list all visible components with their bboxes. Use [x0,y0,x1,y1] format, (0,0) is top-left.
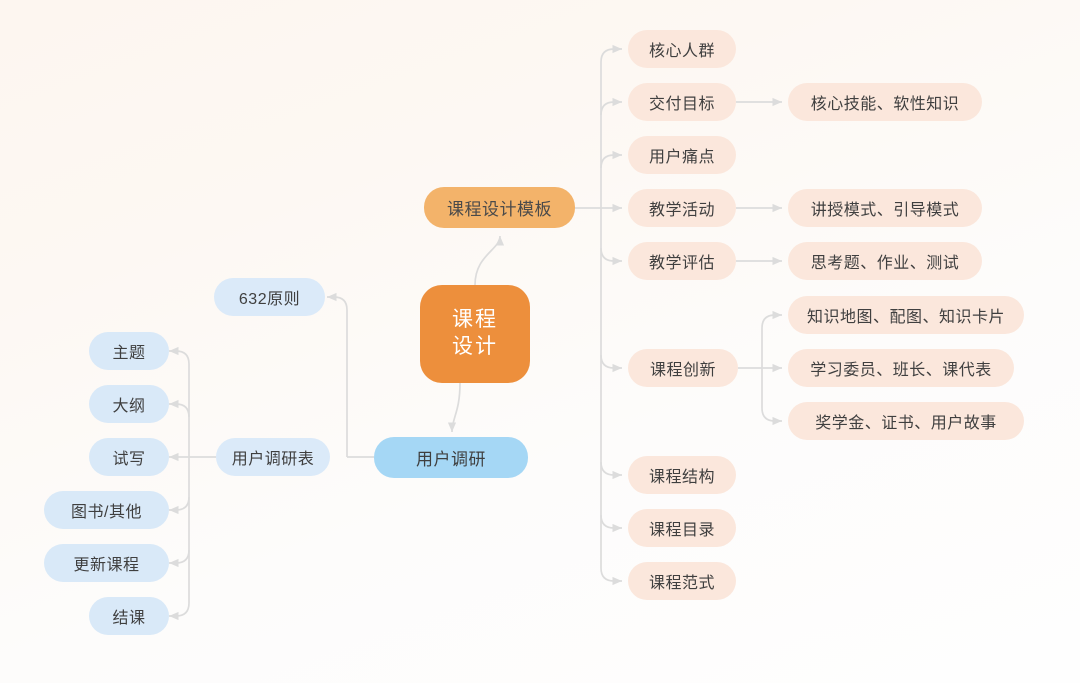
node-core-audience[interactable]: 核心人群 [628,30,736,68]
node-teaching-assessment[interactable]: 教学评估 [628,242,736,280]
node-label: 课程结构 [649,463,715,487]
node-outline[interactable]: 大纲 [89,385,169,423]
node-label: 用户调研 [416,445,486,470]
node-label: 课程目录 [649,516,715,540]
node-course-innovation-detail-1[interactable]: 知识地图、配图、知识卡片 [788,296,1024,334]
node-update-course[interactable]: 更新课程 [44,544,169,582]
node-label: 核心人群 [649,37,715,61]
node-label: 课程设计模板 [447,195,552,220]
node-label: 课程创新 [650,356,716,380]
node-research-form[interactable]: 用户调研表 [216,438,330,476]
node-label: 交付目标 [649,90,715,114]
node-books-others[interactable]: 图书/其他 [44,491,169,529]
node-course-innovation[interactable]: 课程创新 [628,349,738,387]
node-teaching-assessment-detail[interactable]: 思考题、作业、测试 [788,242,982,280]
node-course-innovation-detail-3[interactable]: 奖学金、证书、用户故事 [788,402,1024,440]
node-label: 用户痛点 [649,143,715,167]
node-label: 主题 [112,339,145,363]
root-label-line1: 课程 [452,307,498,334]
root-node-course-design[interactable]: 课程 设计 [420,285,530,383]
node-delivery-goal-detail[interactable]: 核心技能、软性知识 [788,83,982,121]
node-teaching-activity-detail[interactable]: 讲授模式、引导模式 [788,189,982,227]
root-label-line2: 设计 [452,334,498,361]
node-user-painpoint[interactable]: 用户痛点 [628,136,736,174]
node-label: 课程范式 [649,569,715,593]
mindmap-canvas: 课程 设计 课程设计模板 核心人群 交付目标 核心技能、软性知识 用户痛点 教学… [0,0,1080,683]
node-label: 教学活动 [649,196,715,220]
node-user-research[interactable]: 用户调研 [374,437,528,478]
node-course-design-template[interactable]: 课程设计模板 [424,187,575,228]
node-topic[interactable]: 主题 [89,332,169,370]
node-label: 更新课程 [73,551,139,575]
node-course-catalog[interactable]: 课程目录 [628,509,736,547]
node-label: 讲授模式、引导模式 [811,196,960,220]
node-course-innovation-detail-2[interactable]: 学习委员、班长、课代表 [788,349,1014,387]
node-label: 学习委员、班长、课代表 [810,356,992,380]
node-course-paradigm[interactable]: 课程范式 [628,562,736,600]
node-label: 思考题、作业、测试 [811,249,960,273]
node-course-structure[interactable]: 课程结构 [628,456,736,494]
node-label: 结课 [112,604,145,628]
node-trial-writing[interactable]: 试写 [89,438,169,476]
node-632-principle[interactable]: 632原则 [214,278,325,316]
node-label: 用户调研表 [232,445,315,469]
node-label: 知识地图、配图、知识卡片 [807,303,1005,327]
node-teaching-activity[interactable]: 教学活动 [628,189,736,227]
node-label: 632原则 [239,285,300,309]
node-delivery-goal[interactable]: 交付目标 [628,83,736,121]
node-label: 大纲 [112,392,145,416]
node-label: 教学评估 [649,249,715,273]
node-label: 核心技能、软性知识 [811,90,960,114]
node-label: 图书/其他 [71,498,142,522]
node-label: 奖学金、证书、用户故事 [815,409,997,433]
node-course-completion[interactable]: 结课 [89,597,169,635]
node-label: 试写 [112,445,145,469]
